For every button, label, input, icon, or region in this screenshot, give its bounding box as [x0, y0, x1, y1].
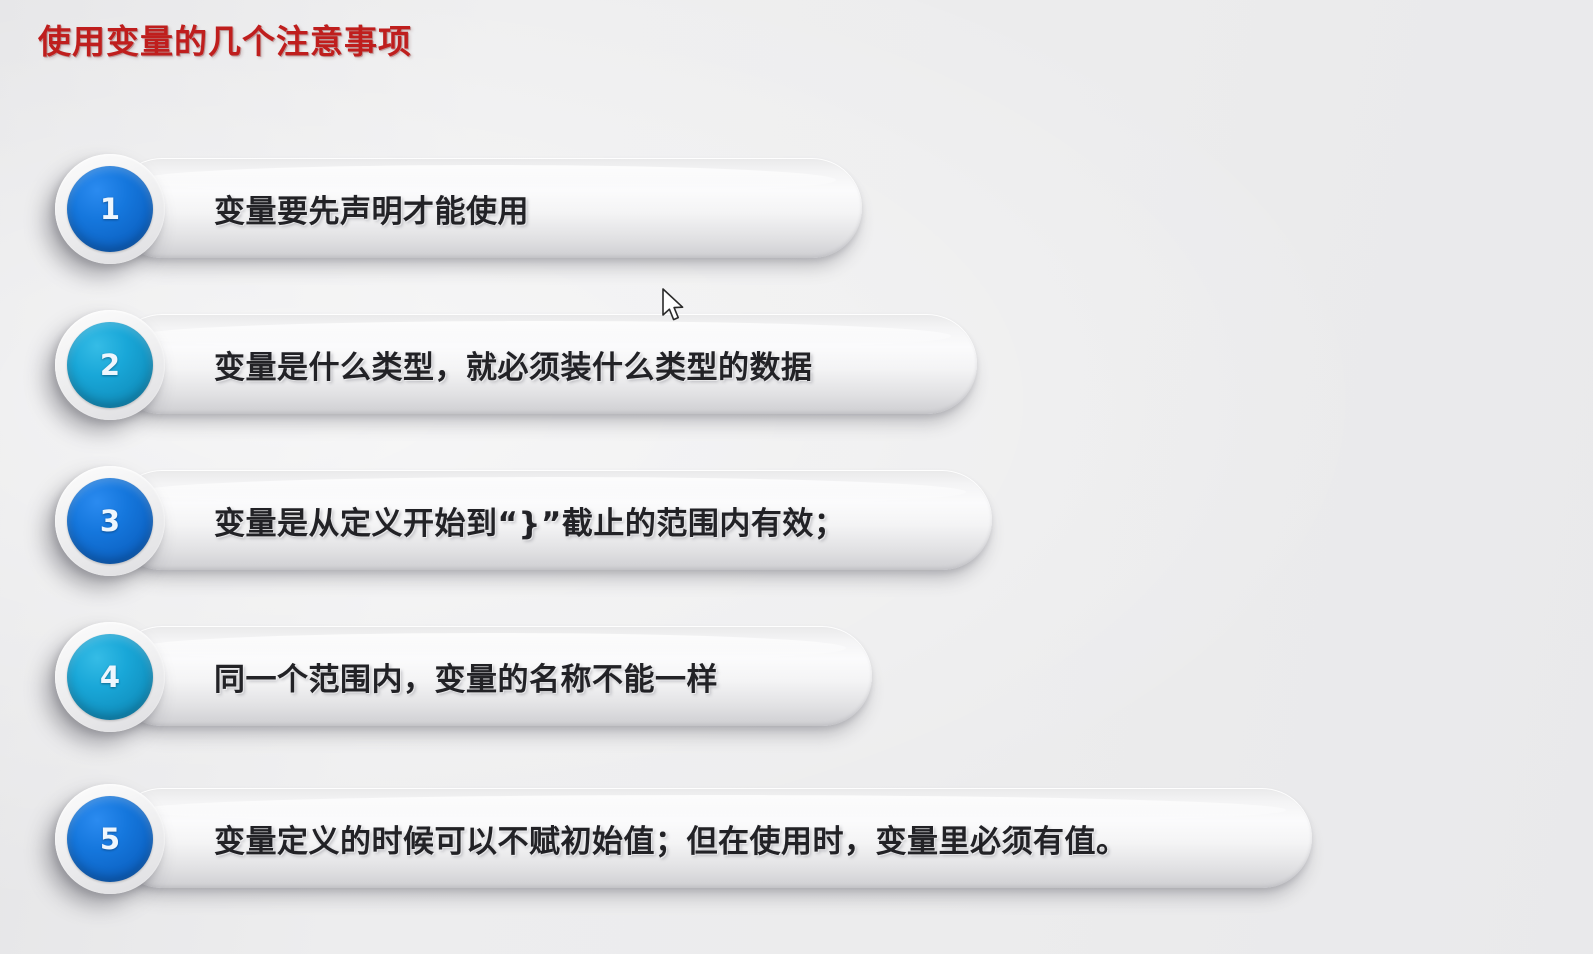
list-item-number-badge: 3 — [55, 466, 165, 576]
list-item-number-badge: 5 — [55, 784, 165, 894]
list-item-number-badge: 2 — [55, 310, 165, 420]
list-item-label: 同一个范围内，变量的名称不能一样 — [214, 626, 718, 726]
list-item-bar: 变量是什么类型，就必须装什么类型的数据 — [112, 314, 977, 414]
list-item-bar: 变量是从定义开始到“}”截止的范围内有效； — [112, 470, 992, 570]
list-item: 变量要先声明才能使用1 — [0, 158, 1593, 266]
list-item-number: 5 — [67, 796, 153, 882]
list-item-bar: 同一个范围内，变量的名称不能一样 — [112, 626, 872, 726]
slide-canvas: 使用变量的几个注意事项 变量要先声明才能使用1变量是什么类型，就必须装什么类型的… — [0, 0, 1593, 954]
list-item-label: 变量是从定义开始到“}”截止的范围内有效； — [214, 470, 845, 570]
list-item: 变量是什么类型，就必须装什么类型的数据2 — [0, 314, 1593, 422]
list-item: 同一个范围内，变量的名称不能一样4 — [0, 626, 1593, 734]
list-item-label: 变量要先声明才能使用 — [214, 158, 529, 258]
list-item-label: 变量是什么类型，就必须装什么类型的数据 — [214, 314, 813, 414]
list-item-number: 4 — [67, 634, 153, 720]
numbered-list: 变量要先声明才能使用1变量是什么类型，就必须装什么类型的数据2变量是从定义开始到… — [0, 0, 1593, 954]
list-item: 变量定义的时候可以不赋初始值；但在使用时，变量里必须有值。5 — [0, 788, 1593, 896]
list-item-number-badge: 1 — [55, 154, 165, 264]
list-item-bar: 变量定义的时候可以不赋初始值；但在使用时，变量里必须有值。 — [112, 788, 1312, 888]
list-item: 变量是从定义开始到“}”截止的范围内有效；3 — [0, 470, 1593, 578]
list-item-number: 3 — [67, 478, 153, 564]
list-item-bar: 变量要先声明才能使用 — [112, 158, 862, 258]
list-item-number-badge: 4 — [55, 622, 165, 732]
list-item-number: 1 — [67, 166, 153, 252]
list-item-label: 变量定义的时候可以不赋初始值；但在使用时，变量里必须有值。 — [214, 788, 1128, 888]
list-item-number: 2 — [67, 322, 153, 408]
